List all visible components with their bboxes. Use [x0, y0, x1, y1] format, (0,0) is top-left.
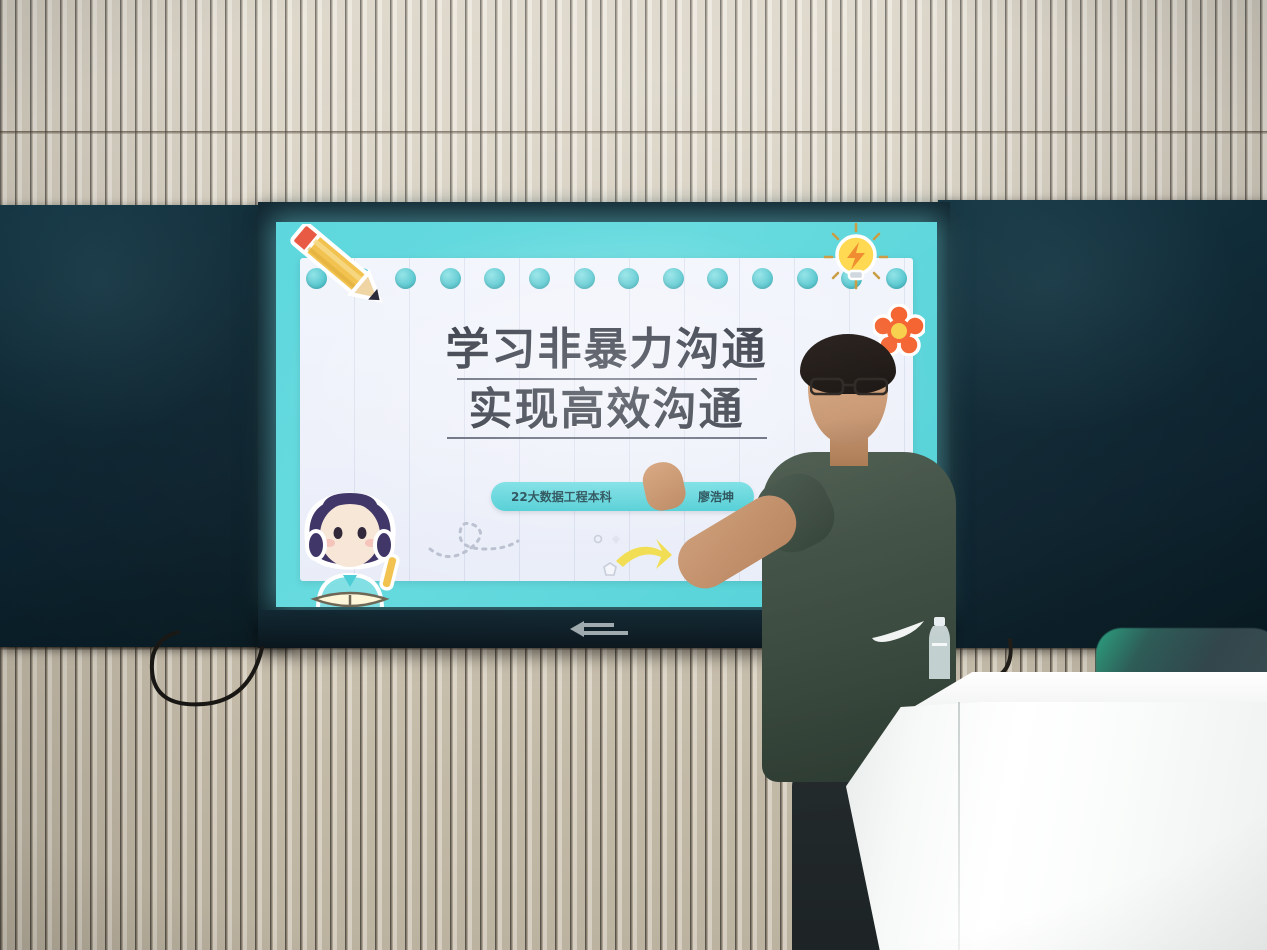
binder-dot: [529, 268, 550, 289]
binder-dot: [663, 268, 684, 289]
slide-subtitle-pill: 22大数据工程本科 廖浩坤: [491, 482, 754, 511]
title-rule-2: [447, 437, 767, 439]
lectern-podium: [846, 672, 1267, 950]
glasses-icon: [810, 376, 888, 396]
binder-dot: [574, 268, 595, 289]
lectern-edge-crease: [958, 702, 960, 950]
subtitle-presenter-name: 廖浩坤: [698, 488, 734, 505]
binder-dot: [484, 268, 505, 289]
doodle-arrow-icon: [426, 509, 676, 581]
subtitle-class-label: 22大数据工程本科: [511, 488, 612, 505]
binder-dot: [618, 268, 639, 289]
pencil-icon: [280, 224, 398, 308]
binder-dot: [797, 268, 818, 289]
girl-reading-icon: [288, 483, 412, 607]
title-rule-1: [457, 378, 757, 380]
binder-dot: [395, 268, 416, 289]
lectern-front-face: [846, 702, 1267, 950]
water-bottle-icon: [924, 617, 954, 679]
binder-dot: [752, 268, 773, 289]
binder-dot: [707, 268, 728, 289]
lightbulb-icon: [819, 222, 893, 294]
classroom-photo-scene: 学习非暴力沟通 实现高效沟通 22大数据工程本科 廖浩坤: [0, 0, 1267, 950]
nike-swoosh-icon: [870, 620, 926, 642]
binder-dot: [440, 268, 461, 289]
